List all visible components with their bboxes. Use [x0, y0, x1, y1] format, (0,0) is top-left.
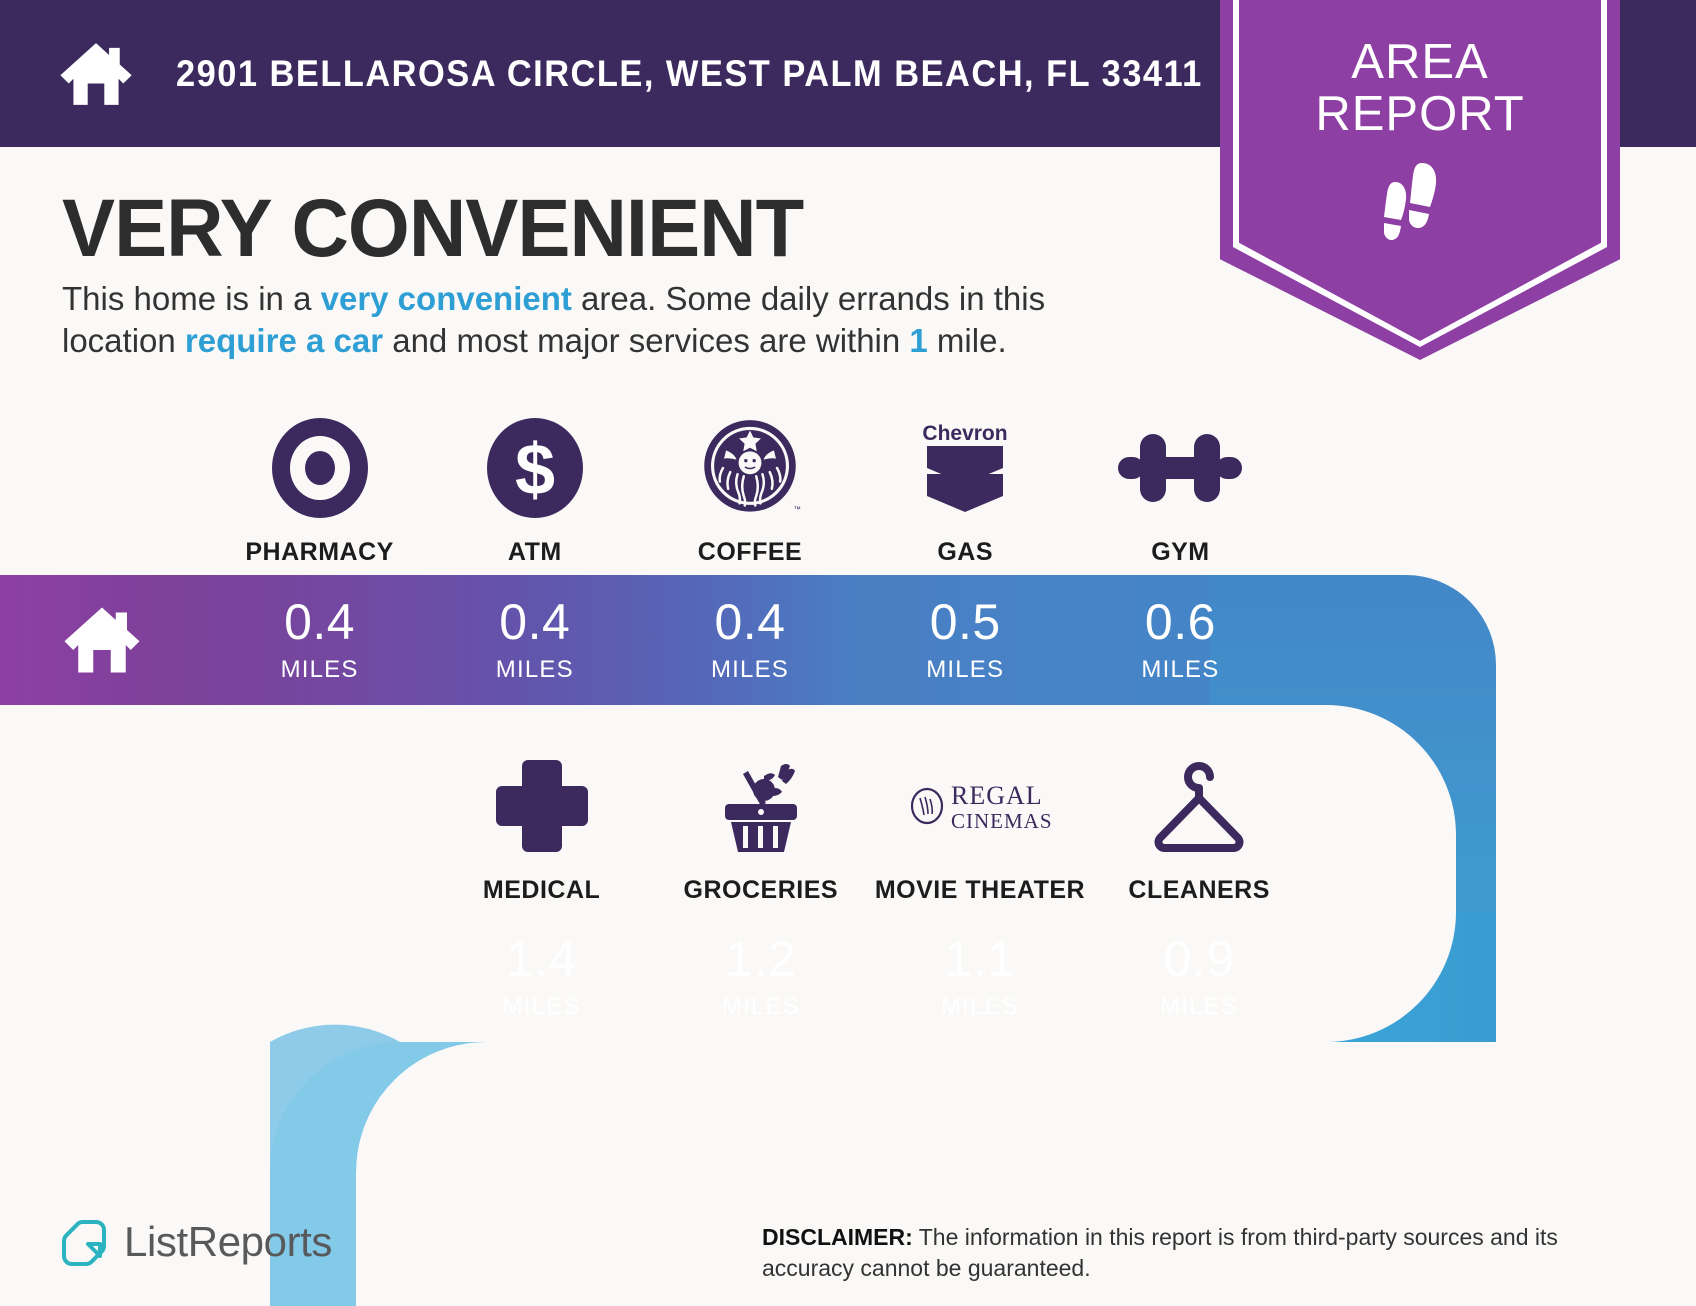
distance-value: 1.2: [725, 934, 796, 984]
service-label: GROCERIES: [684, 876, 839, 905]
distance-cell: 0.4 MILES: [427, 575, 642, 705]
icon-box: Chevron: [913, 412, 1017, 524]
badge-line-1: AREA: [1220, 36, 1620, 88]
icon-box: ™: [698, 412, 802, 524]
service-icon-movie-theater: REGAL CINEMAS MOVIE THEATER: [870, 750, 1089, 905]
distance-cell: 0.9 MILES: [1090, 912, 1309, 1042]
distance-value: 0.6: [1145, 597, 1216, 647]
distance-unit: MILES: [281, 656, 359, 684]
listreports-logo[interactable]: ListReports: [62, 1218, 332, 1266]
home-marker-icon: [60, 600, 144, 680]
service-label: PHARMACY: [245, 538, 393, 567]
icon-box: [707, 750, 815, 862]
badge-line-2: REPORT: [1220, 88, 1620, 140]
distance-cell: 0.4 MILES: [212, 575, 427, 705]
property-address: 2901 BELLAROSA CIRCLE, WEST PALM BEACH, …: [176, 53, 1203, 95]
icon-box: [1114, 412, 1246, 524]
svg-text:$: $: [515, 430, 555, 510]
house-icon: [58, 36, 134, 112]
icon-box: $: [485, 412, 585, 524]
page-description: This home is in a very convenient area. …: [62, 278, 1142, 362]
page-title: VERY CONVENIENT: [62, 182, 803, 276]
service-label: MOVIE THEATER: [875, 876, 1085, 905]
svg-text:™: ™: [794, 505, 801, 514]
area-report-badge: AREA REPORT: [1220, 0, 1620, 360]
service-label: CLEANERS: [1128, 876, 1270, 905]
distance-value: 1.4: [506, 934, 577, 984]
clothes-hanger-icon: [1144, 752, 1254, 860]
icon-box: [490, 750, 594, 862]
distance-cell: 0.5 MILES: [858, 575, 1073, 705]
medical-cross-icon: [490, 754, 594, 858]
service-icon-coffee: ™ COFFEE: [642, 412, 857, 567]
listreports-wordmark: ListReports: [124, 1218, 332, 1266]
distance-row-top: 0.4 MILES 0.4 MILES 0.4 MILES 0.5 MILES …: [212, 575, 1288, 705]
svg-text:CINEMAS: CINEMAS: [951, 809, 1053, 833]
distance-cell: 1.2 MILES: [651, 912, 870, 1042]
regal-cinemas-icon: REGAL CINEMAS: [905, 774, 1055, 838]
service-label: MEDICAL: [483, 876, 600, 905]
distance-unit: MILES: [496, 656, 574, 684]
service-icon-row-bottom: MEDICAL: [432, 750, 1309, 905]
service-icon-pharmacy: PHARMACY: [212, 412, 427, 567]
service-icon-medical: MEDICAL: [432, 750, 651, 905]
service-label: GYM: [1151, 538, 1209, 567]
service-icon-gas: Chevron GAS: [858, 412, 1073, 567]
disclaimer-label: DISCLAIMER:: [762, 1224, 913, 1250]
svg-text:REGAL: REGAL: [951, 781, 1043, 810]
distance-cell: 0.6 MILES: [1073, 575, 1288, 705]
distance-cell: 1.1 MILES: [870, 912, 1089, 1042]
desc-part-1: This home is in a: [62, 280, 321, 317]
dollar-circle-icon: $: [485, 418, 585, 518]
starbucks-icon: ™: [698, 416, 802, 520]
listreports-house-icon: [62, 1218, 110, 1266]
icon-box: REGAL CINEMAS: [905, 750, 1055, 862]
desc-part-3: and most major services are within: [383, 322, 909, 359]
desc-highlight-2: require a car: [185, 322, 383, 359]
distance-cell: 0.4 MILES: [642, 575, 857, 705]
desc-highlight-1: very convenient: [321, 280, 572, 317]
distance-unit: MILES: [711, 656, 789, 684]
footprints-icon: [1372, 160, 1468, 246]
service-icon-cleaners: CLEANERS: [1090, 750, 1309, 905]
target-bullseye-icon: [270, 418, 370, 518]
distance-row-bottom: 1.4 MILES 1.2 MILES 1.1 MILES 0.9 MILES: [432, 912, 1309, 1042]
svg-text:Chevron: Chevron: [923, 422, 1008, 445]
distance-unit: MILES: [1141, 656, 1219, 684]
distance-value: 0.5: [930, 597, 1001, 647]
distance-value: 0.9: [1164, 934, 1235, 984]
distance-value: 0.4: [284, 597, 355, 647]
disclaimer-text: DISCLAIMER: The information in this repo…: [762, 1222, 1574, 1283]
distance-value: 0.4: [715, 597, 786, 647]
distance-unit: MILES: [941, 993, 1019, 1021]
distance-unit: MILES: [926, 656, 1004, 684]
service-icon-row-top: PHARMACY $ ATM: [212, 412, 1288, 567]
dumbbell-icon: [1114, 426, 1246, 510]
icon-box: [1144, 750, 1254, 862]
distance-value: 0.4: [499, 597, 570, 647]
service-icon-atm: $ ATM: [427, 412, 642, 567]
distance-value: 1.1: [944, 934, 1015, 984]
distance-unit: MILES: [722, 993, 800, 1021]
desc-highlight-3: 1: [909, 322, 927, 359]
grocery-basket-icon: [707, 752, 815, 860]
icon-box: [270, 412, 370, 524]
distance-unit: MILES: [1160, 993, 1238, 1021]
service-label: ATM: [508, 538, 562, 567]
chevron-logo-icon: Chevron: [913, 416, 1017, 520]
distance-unit: MILES: [503, 993, 581, 1021]
badge-text: AREA REPORT: [1220, 36, 1620, 140]
desc-part-4: mile.: [928, 322, 1007, 359]
distance-cell: 1.4 MILES: [432, 912, 651, 1042]
service-icon-gym: GYM: [1073, 412, 1288, 567]
service-label: COFFEE: [698, 538, 802, 567]
service-label: GAS: [937, 538, 993, 567]
service-icon-groceries: GROCERIES: [651, 750, 870, 905]
